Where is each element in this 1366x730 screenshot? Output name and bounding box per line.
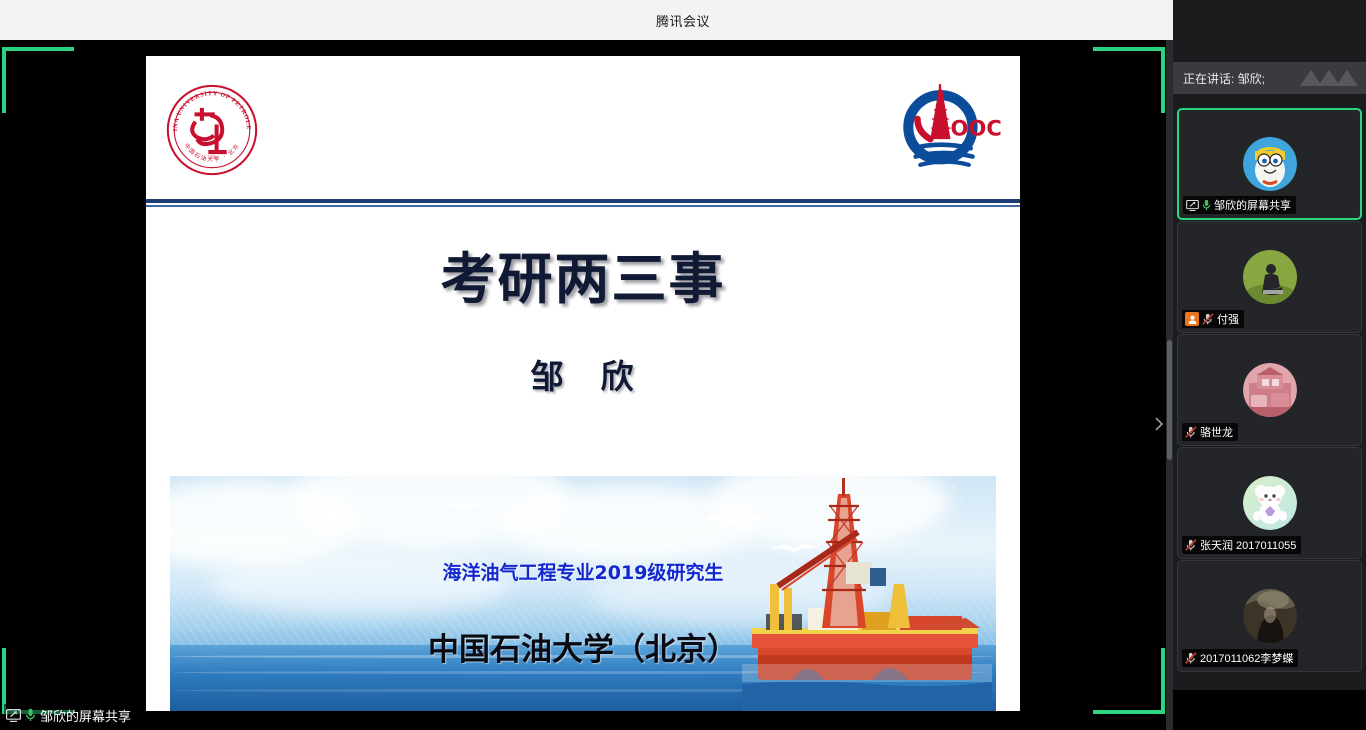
microphone-icon (1202, 199, 1211, 211)
chevron-right-icon (1154, 416, 1164, 432)
meeting-stage: CHINA UNIVERSITY OF PETROLEUM 1953 中国石油大… (0, 40, 1366, 730)
slide-author: 邹 欣 (146, 350, 1020, 398)
participant-panel: 正在讲话: 邹欣; (1173, 0, 1366, 690)
participant-name: 邹欣的屏幕共享 (1214, 197, 1291, 213)
participant-name: 付强 (1217, 311, 1239, 327)
stage-scrollbar[interactable] (1166, 40, 1173, 730)
active-speaker-banner: 正在讲话: 邹欣; (1173, 62, 1366, 94)
participant-tile[interactable]: 2017011062李梦蝶 (1177, 560, 1362, 672)
share-border-corner-bottom-right (1093, 648, 1165, 714)
participant-name-bar: 2017011062李梦蝶 (1182, 649, 1298, 667)
avatar (1243, 589, 1297, 643)
avatar (1243, 476, 1297, 530)
participant-name-bar: 骆世龙 (1182, 423, 1238, 441)
share-border-corner-top-right (1093, 47, 1165, 113)
participant-name-bar: 付强 (1182, 310, 1244, 328)
window-title: 腾讯会议 (656, 11, 710, 30)
participant-name: 骆世龙 (1200, 424, 1233, 440)
participant-tile[interactable]: 付强 (1177, 221, 1362, 333)
participant-tile[interactable]: 邹欣的屏幕共享 (1177, 108, 1362, 220)
cnooc-logo-icon: OOC (890, 84, 1000, 176)
screen-share-icon (6, 709, 21, 722)
microphone-muted-icon (1202, 313, 1214, 325)
slide-banner-line-1: 海洋油气工程专业2019级研究生 (170, 558, 996, 585)
participant-name-bar: 邹欣的屏幕共享 (1183, 196, 1296, 214)
window-title-bar: 腾讯会议 (0, 0, 1366, 40)
microphone-muted-icon (1185, 426, 1197, 438)
host-badge (1185, 312, 1199, 326)
active-speaker-label: 正在讲话: 邹欣; (1183, 70, 1265, 87)
slide-title: 考研两三事 (146, 234, 1020, 314)
china-university-of-petroleum-logo-icon: CHINA UNIVERSITY OF PETROLEUM 1953 中国石油大… (166, 84, 258, 176)
shared-screen-slide[interactable]: CHINA UNIVERSITY OF PETROLEUM 1953 中国石油大… (146, 56, 1020, 711)
participant-name-bar: 张天润 2017011055 (1182, 536, 1301, 554)
stage-scrollbar-thumb[interactable] (1167, 340, 1172, 460)
slide-banner-line-2: 中国石油大学（北京） (170, 624, 996, 669)
share-status-label: 邹欣的屏幕共享 (40, 706, 131, 725)
screen-share-icon (1186, 200, 1199, 211)
offshore-oil-rig-photo (742, 476, 992, 711)
participant-tile[interactable]: 张天润 2017011055 (1177, 447, 1362, 559)
microphone-muted-icon (1185, 652, 1197, 664)
participant-name: 2017011062李梦蝶 (1200, 650, 1293, 666)
participant-name: 张天润 2017011055 (1200, 537, 1296, 553)
slide-divider-rules (146, 199, 1020, 209)
share-border-corner-top-left (2, 47, 74, 113)
microphone-icon (25, 708, 36, 722)
participant-tile[interactable]: 骆世龙 (1177, 334, 1362, 446)
slide-banner: 海洋油气工程专业2019级研究生 中国石油大学（北京） (170, 476, 996, 711)
svg-text:OOC: OOC (951, 116, 1002, 141)
speaking-waveform-icon (1300, 68, 1358, 88)
avatar (1243, 363, 1297, 417)
seagull-icon (444, 498, 484, 519)
slide-header: CHINA UNIVERSITY OF PETROLEUM 1953 中国石油大… (146, 56, 1020, 196)
avatar (1243, 137, 1297, 191)
person-icon (1188, 315, 1197, 324)
share-status-bar: 邹欣的屏幕共享 (4, 704, 137, 726)
microphone-muted-icon (1185, 539, 1197, 551)
avatar (1243, 250, 1297, 304)
